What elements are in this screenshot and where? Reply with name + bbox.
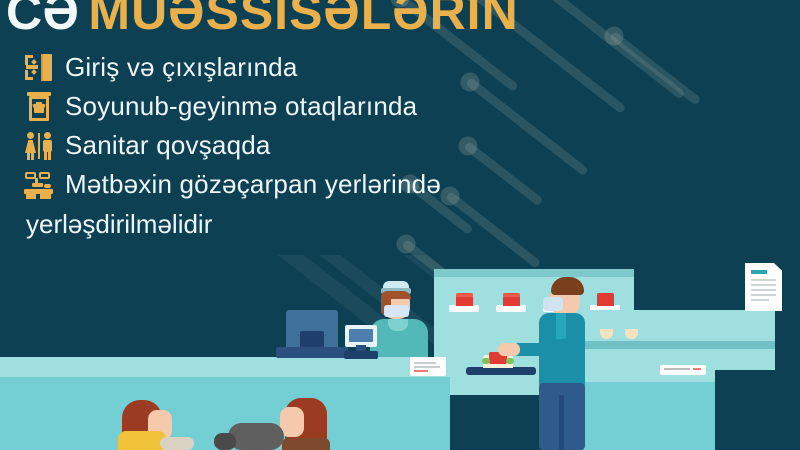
document-line (751, 284, 776, 286)
poster-canvas: CƏ MÜƏSSİSƏLƏRİN Giriş və çıxışlarında (0, 0, 800, 450)
list-item-label: Giriş və çıxışlarında (65, 52, 298, 82)
title-word-gold: MÜƏSSİSƏLƏRİN (88, 0, 518, 41)
plate (449, 305, 479, 312)
register-base (276, 347, 348, 358)
card-reader-base (344, 351, 378, 359)
guest-shoulders (282, 438, 330, 450)
dish-top (456, 293, 473, 297)
customer-hand (498, 343, 520, 356)
guest-arm (228, 423, 284, 450)
trouser-seam (559, 395, 564, 450)
list-item-label: Mətbəxin gözəçarpan yerlərində (65, 169, 441, 199)
sign-line (414, 362, 436, 364)
server-face-mask (384, 305, 409, 317)
continuation-text: yerləşdirilməlidir (26, 208, 584, 240)
counter-label-card (660, 365, 706, 375)
document-line (751, 294, 776, 296)
server-hair-top (381, 291, 411, 299)
customer-shirt-placket (556, 313, 566, 339)
food-case-top (434, 269, 634, 277)
document-heading-bar (751, 270, 767, 274)
guest-arm (160, 437, 194, 450)
wall-shelf (560, 341, 775, 349)
list-item: Giriş və çıxışlarında (24, 52, 584, 83)
pin-decoration (609, 31, 701, 106)
sign-line (414, 366, 440, 368)
list-item-label: Soyunub-geyinmə otaqlarında (65, 91, 417, 121)
list-item: Soyunub-geyinmə otaqlarında (24, 91, 584, 122)
tray-garnish (482, 358, 490, 364)
customer-hair (551, 277, 584, 295)
dish (597, 293, 614, 306)
counter-label-line (664, 368, 690, 370)
customer-face-mask (543, 297, 563, 311)
server-collar (388, 319, 408, 331)
cafeteria-illustration (0, 255, 800, 450)
poster-title: CƏ MÜƏSSİSƏLƏRİN (6, 0, 519, 41)
document-line (751, 279, 776, 281)
document-line (751, 289, 776, 291)
guest-shirt (118, 431, 166, 450)
back-wall-panel (560, 310, 775, 370)
locker-room-icon (24, 92, 54, 122)
card-reader-display (349, 329, 373, 342)
counter-label-accent (693, 368, 701, 370)
guest-hand (214, 433, 236, 450)
main-counter-top (0, 357, 450, 377)
list-item: Sanitar qovşaqda (24, 130, 584, 161)
restroom-icon (24, 131, 54, 161)
plate (496, 305, 526, 312)
title-word-white: CƏ (6, 0, 79, 41)
food-tray (466, 367, 536, 375)
tray-garnish (506, 358, 514, 364)
sign-accent (414, 370, 428, 372)
bullet-list: Giriş və çıxışlarında Soyunub-geyinmə ot… (24, 52, 584, 240)
dish-top (503, 293, 520, 297)
document-line (751, 299, 769, 301)
exit-door-icon (24, 53, 54, 83)
kitchen-stove-icon (24, 170, 54, 200)
list-item-label: Sanitar qovşaqda (65, 130, 271, 160)
list-item: Mətbəxin gözəçarpan yerlərində (24, 169, 584, 200)
